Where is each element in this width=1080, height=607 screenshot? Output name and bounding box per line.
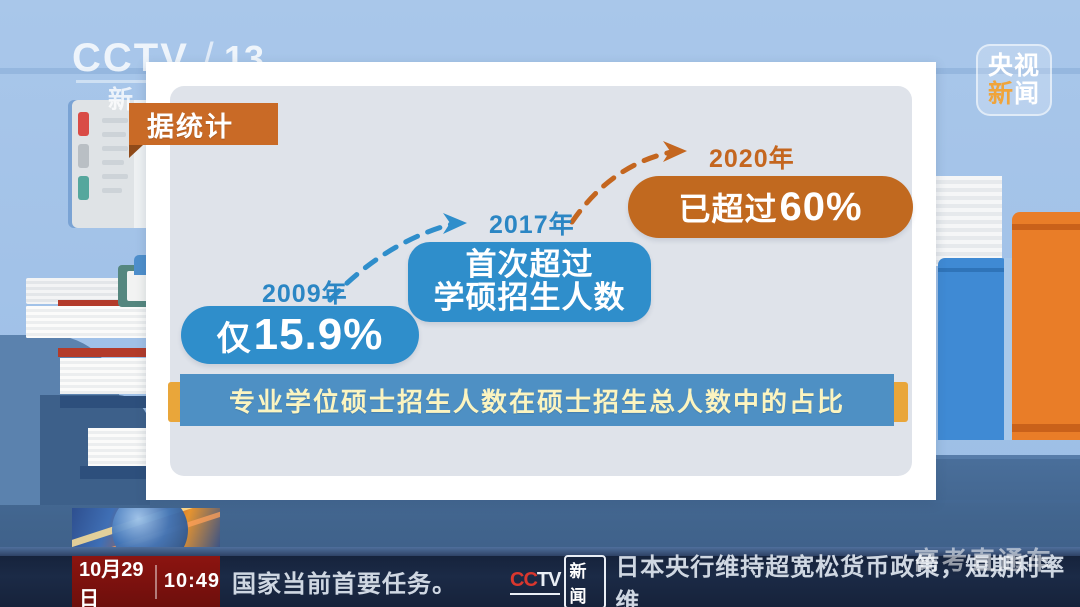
notebook-tab-teal bbox=[78, 176, 89, 200]
datetime-box: 10月29日 10:49 bbox=[72, 556, 220, 607]
cctv-news-badge: 央视 新闻 bbox=[976, 44, 1052, 116]
notebook-tab-gray bbox=[78, 144, 89, 168]
right-orange-book bbox=[1012, 212, 1080, 440]
right-blue-book bbox=[938, 258, 1008, 440]
datapoint-2020-value: 60% bbox=[779, 185, 862, 230]
badge-line2-left: 新 bbox=[988, 80, 1014, 108]
badge-line-1: 央视 bbox=[988, 54, 1040, 79]
ticker-time: 10:49 bbox=[164, 570, 220, 593]
badge-line2-right: 闻 bbox=[1014, 80, 1040, 108]
datapoint-2017-line1: 首次超过 bbox=[466, 249, 594, 282]
cctv-mini-news: 新闻 bbox=[564, 555, 606, 607]
tv-broadcast-screen: CCTV / 13 新闻 央视 新闻 据统计 2009年 仅 15.9% 201… bbox=[0, 0, 1080, 607]
desk-shadow-line bbox=[0, 500, 1080, 503]
ribbon-banner: 据统计 bbox=[129, 103, 278, 145]
year-label-2017: 2017年 bbox=[489, 205, 575, 241]
ticker-headline-1: 国家当前首要任务。 bbox=[232, 564, 457, 599]
datapoint-2009-value: 15.9% bbox=[254, 310, 384, 360]
ribbon-label: 据统计 bbox=[147, 105, 234, 144]
datapoint-2020-prefix: 已超过 bbox=[678, 184, 777, 230]
datapoint-2009: 仅 15.9% bbox=[181, 306, 419, 364]
datetime-separator bbox=[155, 565, 157, 599]
datapoint-2017: 首次超过 学硕招生人数 bbox=[408, 242, 651, 322]
caption-bar: 专业学位硕士招生人数在硕士招生总人数中的占比 bbox=[180, 374, 894, 426]
ticker-headline-1-row: 国家当前首要任务。 bbox=[232, 556, 457, 607]
cctv-news-mini-logo: CCTV 新闻 bbox=[510, 555, 606, 607]
datapoint-2017-line2: 学硕招生人数 bbox=[434, 282, 626, 315]
year-label-2009: 2009年 bbox=[262, 274, 348, 310]
datapoint-2009-prefix: 仅 bbox=[217, 311, 252, 360]
year-label-2020: 2020年 bbox=[709, 139, 795, 175]
right-orange-book-base bbox=[1012, 424, 1080, 432]
cctv-mini-tv: TV bbox=[537, 569, 561, 591]
datapoint-2020: 已超过 60% bbox=[628, 176, 913, 238]
cctv-mini-letters: CCTV bbox=[510, 569, 560, 595]
caption-text: 专业学位硕士招生人数在硕士招生总人数中的占比 bbox=[229, 382, 845, 419]
badge-line-2: 新闻 bbox=[988, 82, 1040, 107]
cctv-mini-cc: CC bbox=[510, 569, 537, 591]
ticker-date: 10月29日 bbox=[72, 553, 148, 607]
notebook-tab-red bbox=[78, 112, 89, 136]
right-paper-stack bbox=[930, 176, 1002, 266]
watermark-text: 高考直通车 bbox=[914, 541, 1054, 577]
